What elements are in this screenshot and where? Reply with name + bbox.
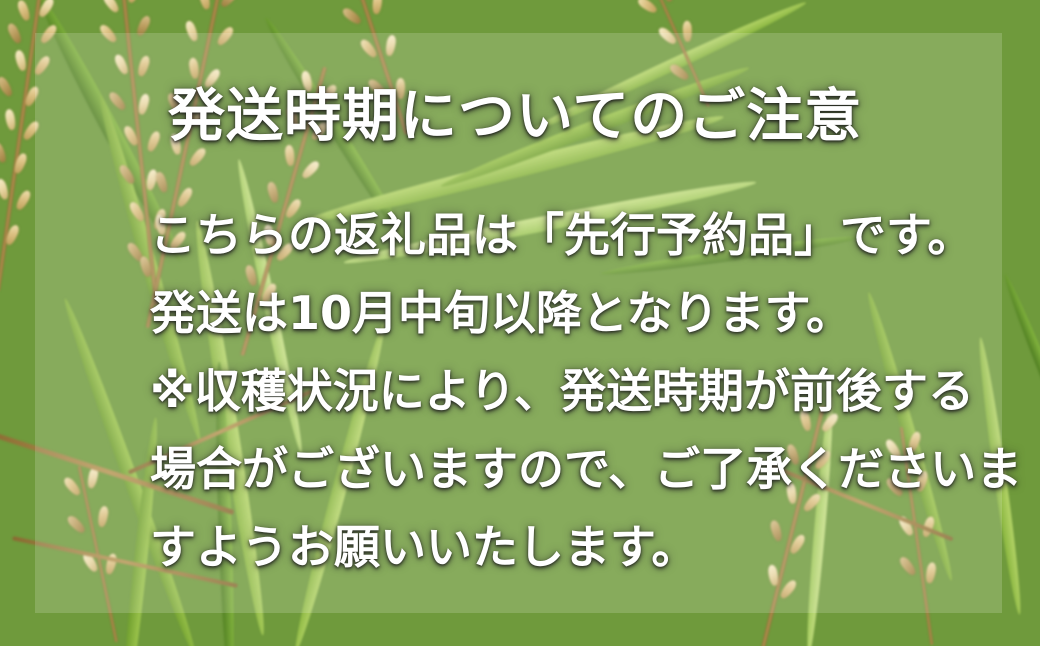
notice-line: こちらの返礼品は「先行予約品」です。 (150, 196, 1010, 274)
notice-line: 場合がございますので、ご了承くださいま (150, 430, 1010, 508)
notice-content: 発送時期についてのご注意 こちらの返礼品は「先行予約品」です。 発送は10月中旬… (0, 0, 1040, 646)
notice-line: 発送は10月中旬以降となります。 (150, 274, 1010, 352)
page-title: 発送時期についてのご注意 (168, 86, 862, 148)
notice-body: こちらの返礼品は「先行予約品」です。 発送は10月中旬以降となります。 ※収穫状… (150, 196, 1010, 586)
shipping-notice-banner: 発送時期についてのご注意 こちらの返礼品は「先行予約品」です。 発送は10月中旬… (0, 0, 1040, 646)
notice-line: すようお願いいたします。 (150, 508, 1010, 586)
notice-line: ※収穫状況により、発送時期が前後する (150, 352, 1010, 430)
